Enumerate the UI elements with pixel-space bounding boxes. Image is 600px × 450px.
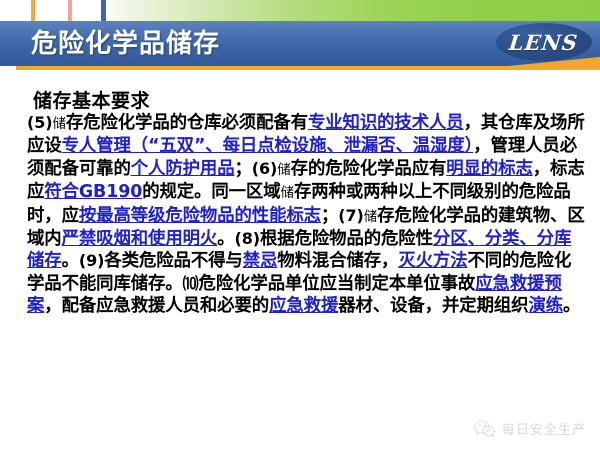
section-heading: 储存基本要求 (33, 86, 150, 113)
wechat-icon (474, 420, 496, 438)
paragraph-run: 器材、设备，并定期组织 (338, 296, 528, 316)
paragraph-run: 专业知识的技术人员 (308, 113, 464, 133)
watermark-label: 每日安全生产 (502, 419, 586, 438)
paragraph-run: (6) (252, 159, 277, 178)
paragraph-run: (7) (338, 206, 363, 225)
paragraph-run: 各类危险品不得与 (104, 251, 242, 271)
paragraph-run: ，配备应急救援人员和必要的 (44, 296, 269, 316)
paragraph-run: 明显的标志 (446, 159, 532, 179)
paragraph-run: 储 (277, 162, 290, 178)
slide-canvas: 危险化学品储存 LENS 储存基本要求 (5)储存危险化学品的仓库必须配备有专业… (0, 0, 600, 450)
paragraph-run: 物料混合储存， (277, 251, 398, 271)
paragraph-run: 严禁吸烟和使用明火 (62, 229, 218, 249)
paragraph-run: (5) (27, 113, 52, 132)
paragraph-run: 。 (217, 229, 234, 249)
paragraph-run: 储 (52, 116, 65, 132)
paragraph-run: 存的危险化学品应有 (291, 159, 447, 179)
paragraph-run: ； (321, 206, 338, 226)
paragraph-run: 根据危险物品的危险性 (260, 229, 433, 249)
body-paragraph: (5)储存危险化学品的仓库必须配备有专业知识的技术人员，其仓库及场所应设专人管理… (27, 112, 587, 318)
strip-tick-orange (31, 0, 35, 21)
paragraph-run: 专人管理（“五双”、每日点检设施、泄漏否、温湿度） (62, 136, 474, 156)
paragraph-run: 。 (563, 296, 580, 316)
paragraph-run: 符合GB190 (44, 182, 142, 202)
paragraph-run: 演练 (528, 296, 563, 316)
paragraph-run: ； (235, 159, 252, 179)
paragraph-run: 储 (281, 185, 294, 201)
paragraph-run: 危险化学品单位应当制定本单位事故 (199, 274, 476, 294)
wechat-watermark: 每日安全生产 (474, 419, 586, 438)
paragraph-run: 存危险化学品的仓库必须配备有 (66, 113, 308, 133)
slide-body: 储存基本要求 (5)储存危险化学品的仓库必须配备有专业知识的技术人员，其仓库及场… (0, 70, 600, 450)
strip-tick-blue (101, 0, 106, 21)
paragraph-run: 禁忌 (243, 251, 278, 271)
paragraph-run: (8) (235, 229, 260, 248)
paragraph-run: 按最高等级危险物品的性能标志 (79, 206, 321, 226)
strip-tick-pink (68, 0, 72, 21)
paragraph-run: ⑽ (183, 274, 199, 293)
paragraph-run: 。 (62, 251, 79, 271)
top-decoration-strip (0, 0, 600, 21)
paragraph-run: 灭火方法 (398, 251, 467, 271)
page-title: 危险化学品储存 (31, 26, 220, 62)
lens-logo-text: LENS (508, 30, 580, 55)
paragraph-run: (9) (79, 251, 104, 270)
lens-logo: LENS (496, 23, 592, 61)
paragraph-run: 个人防护用品 (131, 159, 235, 179)
paragraph-run: 应急救援 (269, 296, 338, 316)
paragraph-run: 储 (364, 209, 377, 225)
paragraph-run: 的规定。同一区域 (142, 182, 280, 202)
